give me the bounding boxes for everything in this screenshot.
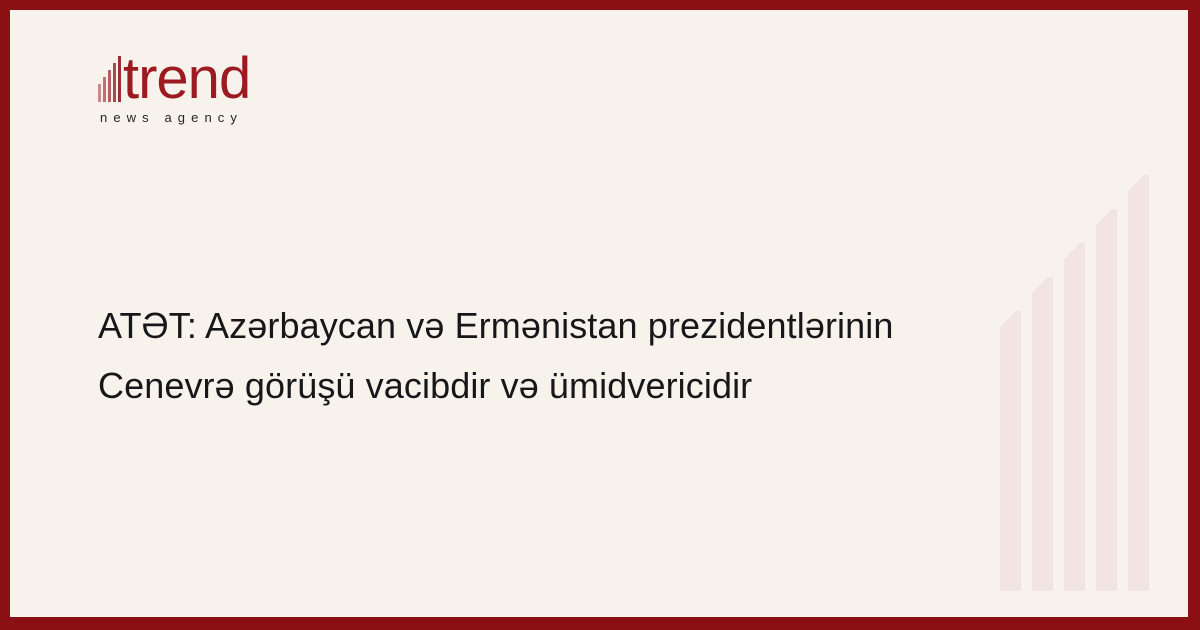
logo-wordmark: trend — [123, 55, 250, 103]
ascending-bars-graphic — [998, 10, 1178, 617]
logo-tagline: news agency — [100, 110, 398, 125]
headline-line-1: ATƏT: Azərbaycan və Ermənistan prezident… — [98, 296, 998, 356]
headline-line-2: Cenevrə görüşü vacibdir və ümidvericidir — [98, 356, 998, 416]
deco-bar — [1064, 243, 1085, 591]
deco-bar — [1000, 311, 1021, 591]
social-share-card: trend news agency ATƏT: Azərbaycan və Er… — [0, 0, 1200, 630]
ascending-bars-icon — [98, 56, 121, 102]
page-title: ATƏT: Azərbaycan və Ermənistan prezident… — [98, 296, 998, 416]
deco-bar — [1096, 209, 1117, 591]
deco-bar — [1032, 277, 1053, 591]
trend-news-agency-logo[interactable]: trend news agency — [98, 45, 398, 125]
deco-bar — [1128, 175, 1149, 591]
card-canvas: trend news agency ATƏT: Azərbaycan və Er… — [10, 10, 1188, 617]
logo-wordmark-row: trend — [98, 45, 398, 103]
